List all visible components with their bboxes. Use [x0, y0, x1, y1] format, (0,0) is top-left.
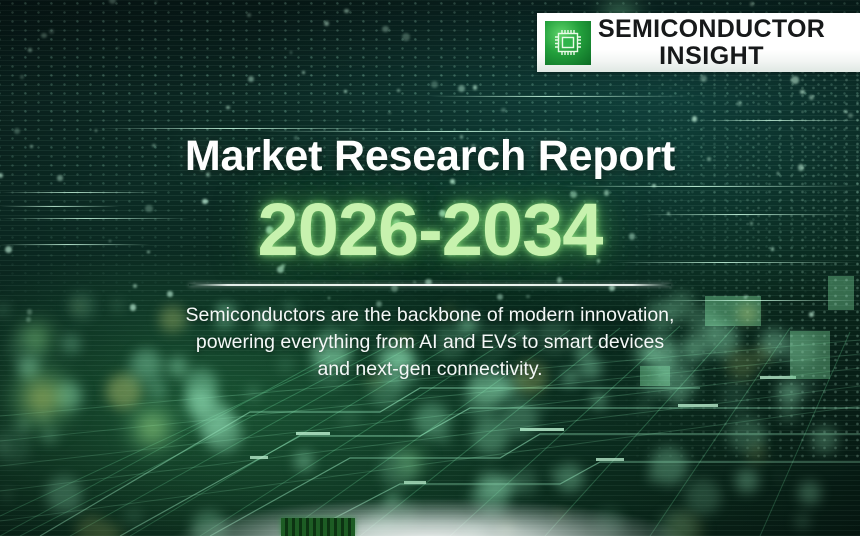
- bottom-chip-graphic: [281, 518, 355, 536]
- brand-line-2: INSIGHT: [659, 44, 764, 69]
- hero-subtitle-line-3: and next-gen connectivity.: [0, 356, 860, 383]
- microchip-icon: [545, 21, 591, 65]
- report-cover-banner: SEMICONDUCTOR INSIGHT Market Research Re…: [0, 0, 860, 536]
- title-divider: [189, 284, 671, 286]
- brand-logo[interactable]: SEMICONDUCTOR INSIGHT: [537, 13, 860, 72]
- hero-subtitle-line-2: powering everything from AI and EVs to s…: [0, 329, 860, 356]
- brand-line-1: SEMICONDUCTOR: [598, 17, 825, 42]
- page-title: Market Research Report: [0, 132, 860, 181]
- hero-subtitle: Semiconductors are the backbone of moder…: [0, 302, 860, 383]
- hero-content: Market Research Report 2026-2034 Semicon…: [0, 132, 860, 383]
- year-range: 2026-2034: [0, 187, 860, 272]
- brand-wordmark: SEMICONDUCTOR INSIGHT: [598, 17, 825, 69]
- bottom-light-band: [170, 498, 690, 536]
- hero-subtitle-line-1: Semiconductors are the backbone of moder…: [0, 302, 860, 329]
